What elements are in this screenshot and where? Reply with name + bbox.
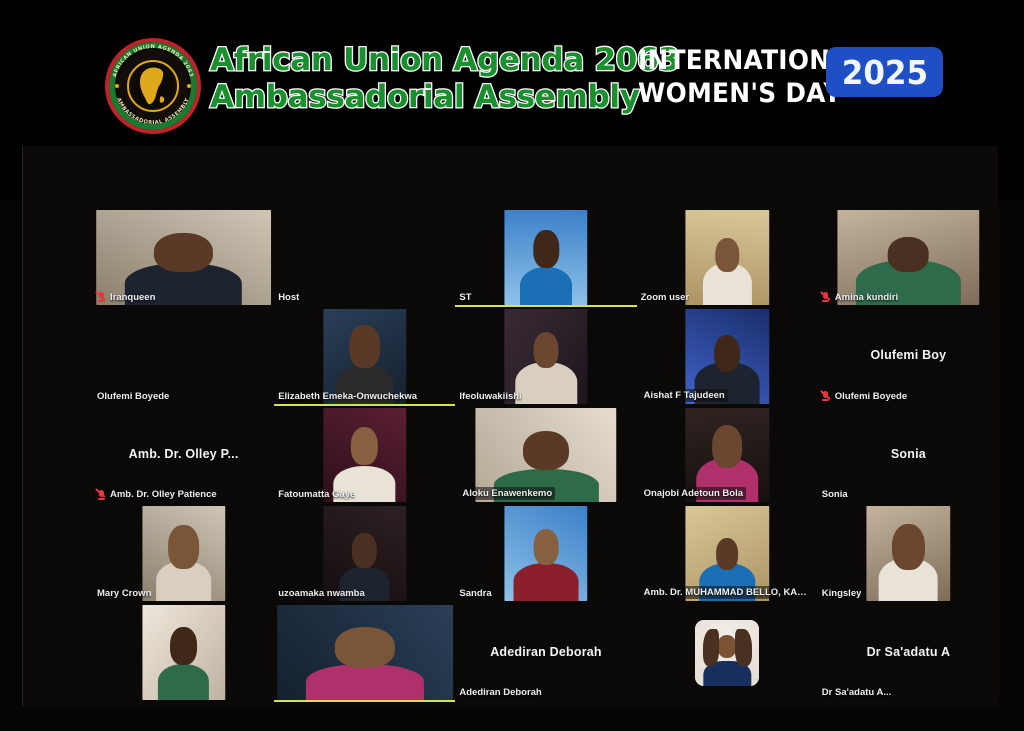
participant-name: ST [459, 292, 471, 303]
participant-tile[interactable] [637, 603, 818, 702]
participant-name: Aloku Enawenkemo [459, 487, 555, 500]
participant-name-bar: Iranqueen [97, 292, 155, 303]
mic-muted-icon [97, 489, 106, 500]
participant-tile[interactable]: uzoamaka nwamba [274, 504, 455, 603]
participant-tile[interactable] [274, 603, 455, 702]
participant-display-name: Dr Sa'adatu A [818, 645, 999, 659]
participant-name-bar: Sandra [459, 588, 491, 599]
participant-name-bar: Host [278, 292, 299, 303]
participant-name: uzoamaka nwamba [278, 588, 365, 599]
participant-name: Aishat F Tajudeen [641, 389, 728, 402]
participant-tile[interactable]: Elizabeth Emeka-Onwuchekwa [274, 307, 455, 406]
participant-video [504, 309, 587, 404]
participant-grid: IranqueenHostSTZoom userAmina kundiriOlu… [93, 208, 999, 702]
organization-title: African Union Agenda 2063 Ambassadorial … [210, 42, 610, 116]
participant-tile[interactable]: Adediran DeborahAdediran Deborah [455, 603, 636, 702]
participant-tile[interactable]: Amina kundiri [818, 208, 999, 307]
participant-name-bar: Dr Sa'adatu A... [822, 687, 891, 698]
participant-name: Dr Sa'adatu A... [822, 687, 891, 698]
participant-name: Iranqueen [110, 292, 155, 303]
participant-tile[interactable]: Olufemi Boyede [93, 307, 274, 406]
participant-tile[interactable]: Zoom user [637, 208, 818, 307]
participant-name-bar: Fatoumatta Gaye [278, 489, 355, 500]
participant-name-bar: Zoom user [641, 292, 690, 303]
participant-name: Onajobi Adetoun Bola [641, 487, 746, 500]
participant-tile[interactable]: Mary Crown [93, 504, 274, 603]
participant-tile[interactable]: Ifeoluwakiishi [455, 307, 636, 406]
participant-name-bar: Ifeoluwakiishi [459, 391, 521, 402]
participant-name: Olufemi Boyede [835, 391, 907, 402]
participant-name-bar: uzoamaka nwamba [278, 588, 365, 599]
participant-video [867, 506, 950, 601]
participant-name-bar: Aishat F Tajudeen [641, 389, 728, 402]
participant-tile[interactable]: Fatoumatta Gaye [274, 406, 455, 505]
participant-name: Kingsley [822, 588, 862, 599]
participant-avatar [695, 620, 759, 686]
mic-muted-icon [822, 391, 831, 402]
participant-name: Sandra [459, 588, 491, 599]
mic-muted-icon [822, 292, 831, 303]
title-line-1: African Union Agenda 2063 [210, 42, 610, 79]
participant-video [504, 210, 587, 305]
participant-name-bar: Kingsley [822, 588, 862, 599]
active-speaker-indicator [274, 404, 455, 406]
active-speaker-indicator [274, 700, 455, 702]
participant-display-name: Adediran Deborah [455, 645, 636, 659]
african-union-emblem-icon: AFRICAN UNION AGENDA 2063 AMBASSADORIAL … [103, 36, 203, 136]
participant-video [323, 506, 406, 601]
participant-name-bar: Mary Crown [97, 588, 151, 599]
participant-tile[interactable]: Aishat F Tajudeen [637, 307, 818, 406]
title-line-2: Ambassadorial Assembly [210, 79, 610, 116]
participant-name: Olufemi Boyede [97, 391, 169, 402]
participant-name-bar: Elizabeth Emeka-Onwuchekwa [278, 391, 417, 402]
participant-name: Adediran Deborah [459, 687, 541, 698]
participant-video [504, 506, 587, 601]
participant-video [838, 210, 979, 305]
participant-name: Elizabeth Emeka-Onwuchekwa [278, 391, 417, 402]
participant-name-bar: Adediran Deborah [459, 687, 541, 698]
participant-name: Host [278, 292, 299, 303]
participant-tile[interactable]: Aloku Enawenkemo [455, 406, 636, 505]
screenshot-root: AFRICAN UNION AGENDA 2063 AMBASSADORIAL … [0, 0, 1024, 731]
participant-name: Amina kundiri [835, 292, 898, 303]
participant-name: Fatoumatta Gaye [278, 489, 355, 500]
participant-name-bar: Amina kundiri [822, 292, 898, 303]
active-speaker-indicator [455, 305, 636, 307]
participant-tile[interactable]: Host [274, 208, 455, 307]
participant-name: Sonia [822, 489, 848, 500]
participant-name: Mary Crown [97, 588, 151, 599]
participant-video [323, 309, 406, 404]
participant-tile[interactable] [93, 603, 274, 702]
participant-tile[interactable]: Iranqueen [93, 208, 274, 307]
participant-name-bar: Olufemi Boyede [822, 391, 907, 402]
participant-tile[interactable]: Amb. Dr. MUHAMMAD BELLO, KANO [637, 504, 818, 603]
participant-name-bar: Amb. Dr. MUHAMMAD BELLO, KANO [641, 586, 814, 599]
participant-tile[interactable]: Dr Sa'adatu ADr Sa'adatu A... [818, 603, 999, 702]
participant-name-bar: Amb. Dr. Olley Patience [97, 489, 217, 500]
participant-video [96, 210, 272, 305]
participant-name-bar: Sonia [822, 489, 848, 500]
participant-video [277, 605, 453, 700]
participant-video [686, 210, 769, 305]
participant-name-bar: Onajobi Adetoun Bola [641, 487, 746, 500]
participant-display-name: Olufemi Boy [818, 348, 999, 362]
year-badge: 2025 [826, 47, 943, 97]
participant-name: Amb. Dr. MUHAMMAD BELLO, KANO [641, 586, 814, 599]
participant-display-name: Amb. Dr. Olley P... [93, 447, 274, 461]
participant-video [142, 506, 225, 601]
participant-video [142, 605, 225, 700]
year-badge-label: 2025 [841, 53, 927, 92]
zoom-meeting-panel: IranqueenHostSTZoom userAmina kundiriOlu… [22, 146, 998, 707]
participant-name-bar: Olufemi Boyede [97, 391, 169, 402]
participant-tile[interactable]: Olufemi BoyOlufemi Boyede [818, 307, 999, 406]
participant-tile[interactable]: Onajobi Adetoun Bola [637, 406, 818, 505]
mic-muted-icon [97, 292, 106, 303]
participant-tile[interactable]: Amb. Dr. Olley P...Amb. Dr. Olley Patien… [93, 406, 274, 505]
participant-name: Amb. Dr. Olley Patience [110, 489, 217, 500]
participant-name-bar: ST [459, 292, 471, 303]
participant-name-bar: Aloku Enawenkemo [459, 487, 555, 500]
participant-name: Ifeoluwakiishi [459, 391, 521, 402]
participant-tile[interactable]: Kingsley [818, 504, 999, 603]
participant-video [323, 408, 406, 503]
participant-tile[interactable]: Sandra [455, 504, 636, 603]
participant-tile[interactable]: ST [455, 208, 636, 307]
participant-tile[interactable]: SoniaSonia [818, 406, 999, 505]
participant-display-name: Sonia [818, 447, 999, 461]
participant-name: Zoom user [641, 292, 690, 303]
